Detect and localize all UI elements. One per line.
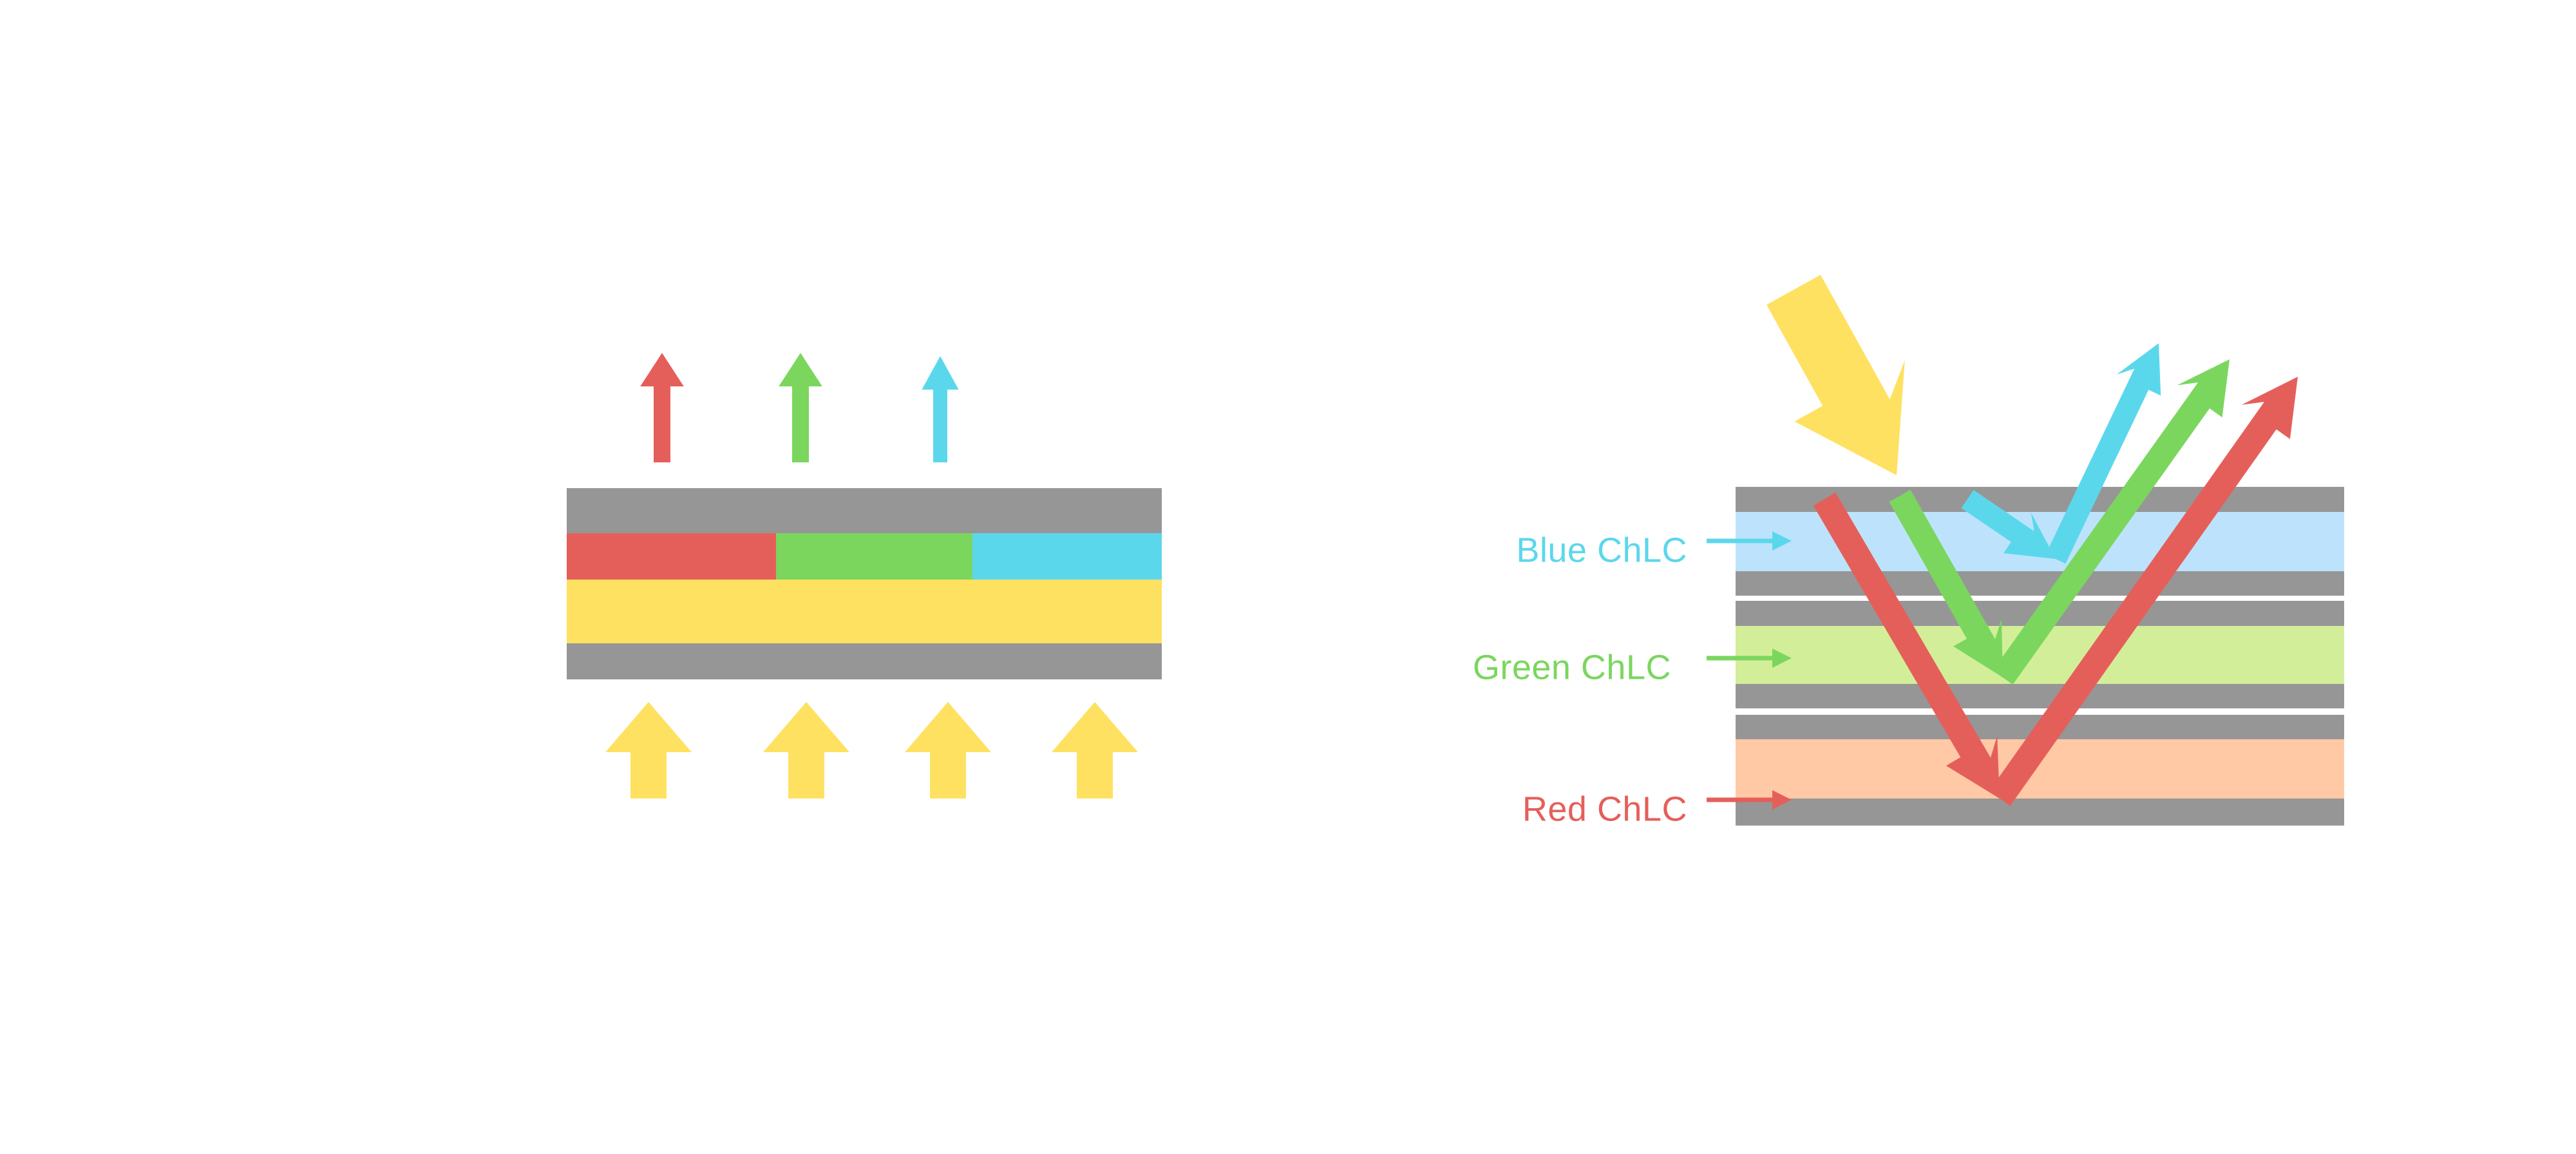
blue-chlc-cell-bottom-electrode: [1736, 571, 2344, 596]
chlc-display-diagram: Blue ChLCGreen ChLCRed ChLC: [0, 0, 2576, 1154]
green-chlc-cell-bottom-electrode: [1736, 684, 2344, 708]
top-electrode-layer: [567, 488, 1162, 533]
blue-chlc-cell-label: Blue ChLC: [1516, 531, 1687, 569]
red-chlc-cell-bottom-electrode: [1736, 799, 2344, 826]
bottom-electrode-layer: [567, 643, 1162, 679]
color-filter-blue-layer: [972, 533, 1162, 580]
color-filter-green-layer: [776, 533, 972, 580]
color-filter-red-layer: [567, 533, 776, 580]
backlight-layer-layer: [567, 580, 1162, 643]
figure-root: Blue ChLCGreen ChLCRed ChLC: [0, 0, 2576, 1154]
red-chlc-cell-label: Red ChLC: [1522, 790, 1687, 828]
green-chlc-cell-label: Green ChLC: [1473, 648, 1671, 686]
